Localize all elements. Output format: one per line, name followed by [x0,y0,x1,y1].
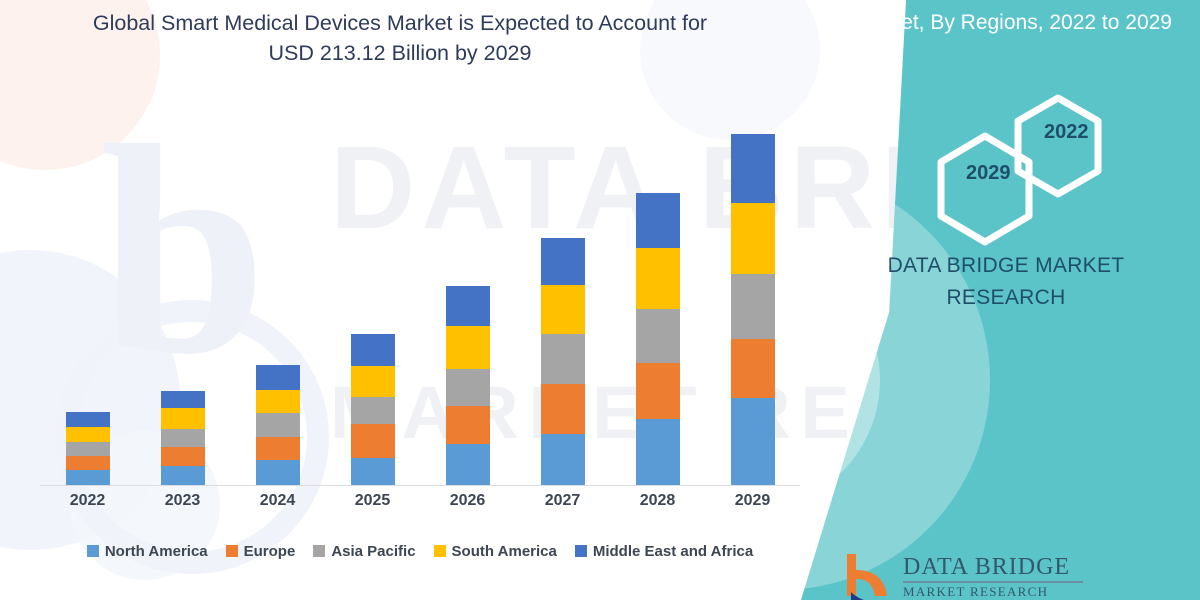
legend-item-asia-pacific[interactable]: Asia Pacific [313,543,415,560]
bar-segment-2027-middle-east-and-africa [541,238,585,285]
legend-label: South America [452,543,557,560]
bar-segment-2029-europe [731,339,775,398]
bar-segment-2027-north-america [541,434,585,485]
bar-segment-2028-asia-pacific [636,309,680,363]
hexagon-badges: 2022 2029 [922,92,1122,222]
bar-segment-2023-south-america [161,408,205,429]
bar-segment-2024-middle-east-and-africa [256,365,300,389]
page-title: Global Smart Medical Devices Market is E… [70,8,730,68]
bar-2029 [731,134,775,485]
x-label-2023: 2023 [148,492,218,510]
bar-segment-2029-north-america [731,398,775,485]
bar-segment-2024-north-america [256,460,300,485]
x-label-2025: 2025 [338,492,408,510]
logo-title: DATA BRIDGE [903,554,1070,581]
hexagon-2029 [932,130,1038,248]
legend-label: Europe [244,543,296,560]
bar-segment-2024-europe [256,437,300,460]
bar-2025 [351,334,395,485]
legend-item-south-america[interactable]: South America [434,543,557,560]
hexagon-2029-label: 2029 [966,162,1011,185]
bar-segment-2025-north-america [351,458,395,485]
hexagon-2022-label: 2022 [1044,121,1089,144]
legend-item-europe[interactable]: Europe [226,543,296,560]
bar-2028 [636,193,680,485]
x-label-2028: 2028 [623,492,693,510]
x-label-2026: 2026 [433,492,503,510]
bar-2026 [446,286,490,485]
bar-2027 [541,238,585,485]
bar-segment-2022-middle-east-and-africa [66,412,110,427]
bar-segment-2025-asia-pacific [351,397,395,424]
logo-divider [903,581,1083,583]
x-axis-line [40,485,800,486]
bar-segment-2024-south-america [256,390,300,413]
bar-segment-2029-asia-pacific [731,274,775,338]
legend-label: Middle East and Africa [593,543,753,560]
panel-subtitle: Market, By Regions, 2022 to 2029 [842,8,1172,38]
stacked-bar-chart: 20222023202420252026202720282029 [40,100,800,520]
bar-segment-2022-europe [66,456,110,470]
logo-subtitle: MARKET RESEARCH [903,584,1048,600]
bar-segment-2026-europe [446,406,490,445]
chart-legend: North AmericaEuropeAsia PacificSouth Ame… [40,538,800,564]
bar-segment-2026-asia-pacific [446,369,490,406]
infographic-canvas: b DATA BRIDGE MARKET RESEARCH Market, By… [0,0,1200,600]
legend-item-middle-east-and-africa[interactable]: Middle East and Africa [575,543,753,560]
bar-segment-2026-south-america [446,326,490,369]
bar-segment-2027-europe [541,384,585,434]
logo-bridge-icon [845,552,889,600]
bar-segment-2028-middle-east-and-africa [636,193,680,248]
bar-segment-2029-south-america [731,203,775,275]
brand-name: DATA BRIDGE MARKET RESEARCH [836,250,1176,314]
legend-label: North America [105,543,208,560]
bar-segment-2022-north-america [66,470,110,485]
legend-swatch-icon [434,545,446,557]
bar-segment-2025-middle-east-and-africa [351,334,395,366]
legend-label: Asia Pacific [331,543,415,560]
bar-2023 [161,391,205,485]
bar-segment-2026-middle-east-and-africa [446,286,490,326]
bar-segment-2023-north-america [161,466,205,485]
bar-segment-2028-europe [636,363,680,419]
legend-swatch-icon [575,545,587,557]
bar-segment-2023-middle-east-and-africa [161,391,205,408]
legend-item-north-america[interactable]: North America [87,543,208,560]
bar-segment-2022-asia-pacific [66,442,110,456]
legend-swatch-icon [87,545,99,557]
x-label-2024: 2024 [243,492,313,510]
bar-segment-2028-north-america [636,419,680,485]
logo: DATA BRIDGE MARKET RESEARCH [845,548,1175,600]
bar-segment-2023-europe [161,447,205,466]
legend-swatch-icon [313,545,325,557]
bar-2024 [256,365,300,485]
x-axis-labels: 20222023202420252026202720282029 [40,492,800,522]
bar-segment-2023-asia-pacific [161,429,205,447]
bar-segment-2025-europe [351,424,395,458]
x-label-2022: 2022 [53,492,123,510]
bar-segment-2027-asia-pacific [541,334,585,384]
plot-area [40,100,800,485]
legend-swatch-icon [226,545,238,557]
bar-segment-2029-middle-east-and-africa [731,134,775,203]
bar-segment-2028-south-america [636,248,680,309]
bar-segment-2022-south-america [66,427,110,442]
x-label-2027: 2027 [528,492,598,510]
bar-segment-2026-north-america [446,444,490,485]
bar-segment-2027-south-america [541,285,585,334]
bar-segment-2025-south-america [351,366,395,397]
bar-2022 [66,412,110,485]
bar-segment-2024-asia-pacific [256,413,300,437]
x-label-2029: 2029 [718,492,788,510]
